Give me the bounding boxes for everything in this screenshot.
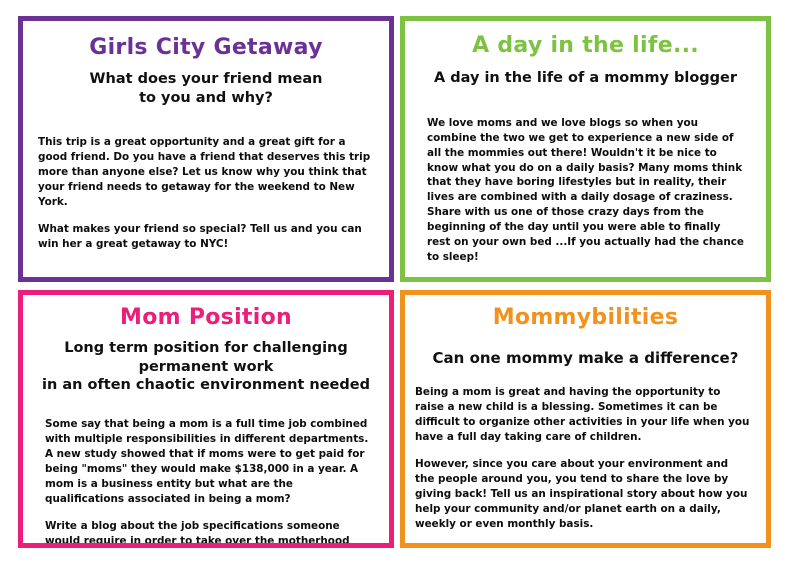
panel-mom-position: Mom Position Long term position for chal… bbox=[18, 290, 394, 548]
panel-title-girls-city-getaway: Girls City Getaway bbox=[23, 35, 389, 60]
panel-a-day-in-the-life: A day in the life... A day in the life o… bbox=[400, 16, 771, 282]
panel-body-mom-position: Some say that being a mom is a full time… bbox=[23, 417, 389, 548]
panel-body-a-day-in-the-life: We love moms and we love blogs so when y… bbox=[405, 116, 766, 266]
body-text: We love moms and we love blogs so when y… bbox=[427, 116, 746, 266]
paragraph: However, since you care about your envir… bbox=[415, 457, 750, 532]
paragraph: What makes your friend so special? Tell … bbox=[38, 222, 375, 252]
panel-subtitle-girls-city-getaway: What does your friend mean to you and wh… bbox=[23, 70, 389, 107]
panel-subtitle-a-day-in-the-life: A day in the life of a mommy blogger bbox=[405, 69, 766, 88]
subtitle-line-1: What does your friend mean bbox=[90, 71, 323, 87]
panel-body-girls-city-getaway: This trip is a great opportunity and a g… bbox=[23, 135, 389, 252]
body-text: Some say that being a mom is a full time… bbox=[45, 417, 375, 548]
body-text: Being a mom is great and having the oppo… bbox=[415, 385, 750, 548]
panel-title-mommybilities: Mommybilities bbox=[405, 305, 766, 330]
subtitle-line-2: to you and why? bbox=[139, 90, 273, 106]
subtitle-line-2: in an often chaotic environment needed bbox=[42, 377, 370, 393]
body-text: This trip is a great opportunity and a g… bbox=[38, 135, 375, 252]
panel-subtitle-mommybilities: Can one mommy make a difference? bbox=[405, 349, 766, 368]
flyer-page: Girls City Getaway What does your friend… bbox=[0, 0, 792, 574]
panel-mommybilities: Mommybilities Can one mommy make a diffe… bbox=[400, 290, 771, 548]
panel-title-a-day-in-the-life: A day in the life... bbox=[405, 33, 766, 58]
panel-body-mommybilities: Being a mom is great and having the oppo… bbox=[405, 385, 766, 548]
paragraph: This trip is a great opportunity and a g… bbox=[38, 135, 375, 210]
paragraph: We love moms and we love blogs so when y… bbox=[427, 116, 746, 266]
subtitle-line-1: Long term position for challenging perma… bbox=[64, 340, 348, 375]
panel-title-mom-position: Mom Position bbox=[23, 305, 389, 330]
paragraph: Being a mom is great and having the oppo… bbox=[415, 385, 750, 445]
paragraph: Every little bit counts and we want to h… bbox=[415, 544, 750, 548]
paragraph: Some say that being a mom is a full time… bbox=[45, 417, 375, 507]
panel-subtitle-mom-position: Long term position for challenging perma… bbox=[23, 339, 389, 395]
paragraph: Write a blog about the job specification… bbox=[45, 519, 375, 548]
panel-girls-city-getaway: Girls City Getaway What does your friend… bbox=[18, 16, 394, 282]
